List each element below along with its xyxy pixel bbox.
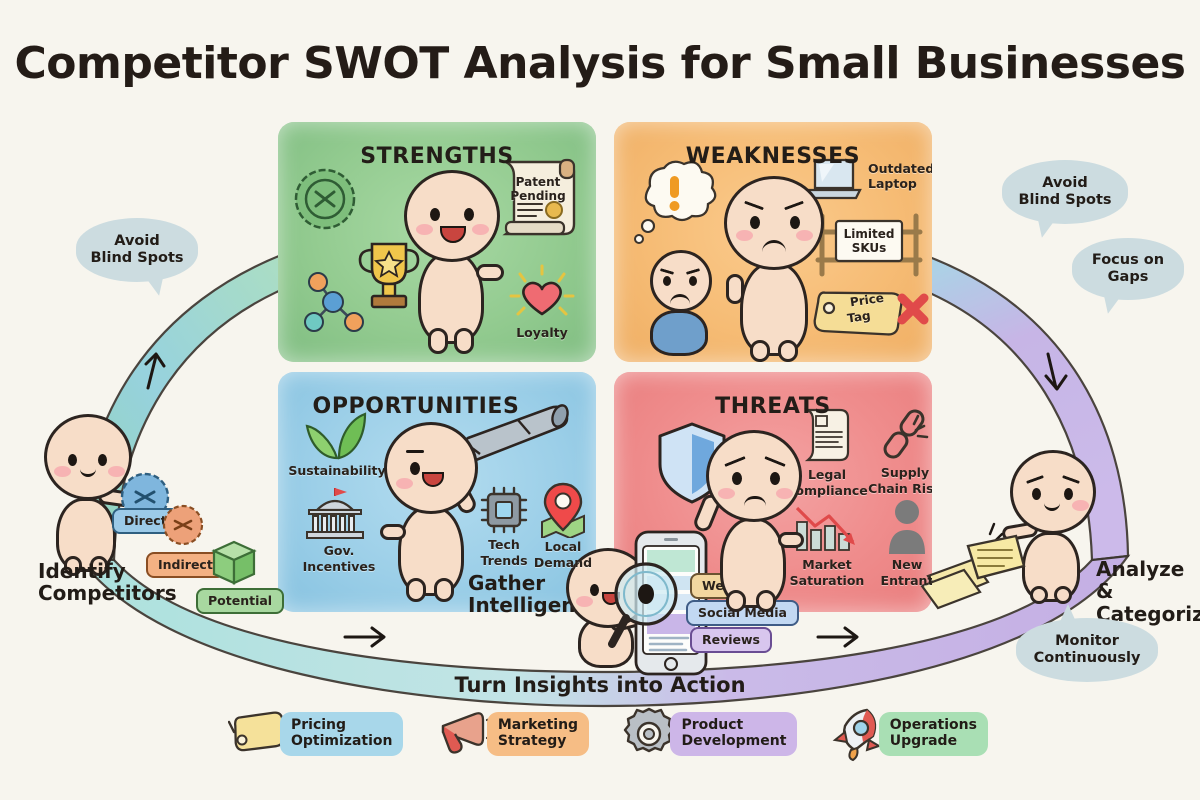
bubble-left-line2: Blind Spots <box>90 250 183 266</box>
sku-label-line2: SKUs <box>838 242 900 255</box>
new-entrant-item: New Entrant <box>870 498 932 587</box>
infographic-canvas: Competitor SWOT Analysis for Small Busin… <box>0 0 1200 800</box>
flow-arrow-up <box>146 354 164 388</box>
character-defensive <box>692 428 824 610</box>
supply-label-line2: Chain Risk <box>864 482 932 496</box>
supply-chain-risk-item: Supply Chain Risk <box>864 406 932 495</box>
local-demand-item: Local Demand <box>532 482 594 569</box>
price-tag-icon <box>228 708 288 760</box>
laptop-label-line2: Laptop <box>868 177 932 191</box>
supply-label-line1: Supply <box>864 466 932 480</box>
flow-arrow-down <box>1046 354 1066 389</box>
action-product-label: ProductDevelopment <box>670 712 797 756</box>
bubble-monitor-line1: Monitor <box>1055 633 1119 649</box>
action-pricing-label: PricingOptimization <box>280 712 403 756</box>
sku-label-line1: Limited <box>838 228 900 241</box>
identify-line2: Competitors <box>38 582 198 604</box>
page-title: Competitor SWOT Analysis for Small Busin… <box>0 38 1200 89</box>
local-label-line2: Demand <box>532 556 594 570</box>
entrant-label-line1: New <box>870 558 932 572</box>
thought-bubble <box>626 160 722 252</box>
entrant-label-line2: Entrant <box>870 574 932 588</box>
flow-arrow-right-2 <box>818 628 857 646</box>
quadrant-weaknesses-title: WEAKNESSES <box>624 144 922 169</box>
character-observing <box>370 420 498 600</box>
chip-potential[interactable]: Potential <box>196 588 284 614</box>
chip-reviews[interactable]: Reviews <box>690 627 772 653</box>
action-product-development[interactable]: ProductDevelopment <box>620 707 797 761</box>
map-pin-icon <box>536 482 590 538</box>
quadrant-threats-title: THREATS <box>624 394 922 419</box>
swot-matrix: STRENGTHS <box>278 122 932 612</box>
bubble-gaps-line1: Focus on <box>1092 252 1164 268</box>
actions-row: PricingOptimization MarketingStrategy Pr… <box>228 706 988 762</box>
government-building-icon <box>301 484 377 542</box>
bubble-right-line2: Blind Spots <box>1018 192 1111 208</box>
indirect-competitor-icon <box>160 502 206 548</box>
bubble-focus-on-gaps: Focus on Gaps <box>1072 238 1184 300</box>
action-marketing-strategy[interactable]: MarketingStrategy <box>435 708 589 760</box>
bubble-avoid-blind-spots-right: Avoid Blind Spots <box>1002 160 1128 224</box>
analyze-line1: Analyze & <box>1096 558 1200 603</box>
character-worried <box>710 174 840 360</box>
silhouette-icon <box>883 498 931 556</box>
megaphone-icon <box>435 708 495 760</box>
stage-analyze-categorize: Analyze & Categorize <box>1096 558 1200 625</box>
quadrant-threats[interactable]: THREATS Legal Compliance <box>614 372 932 612</box>
quality-badge-icon <box>292 166 358 232</box>
local-label-line1: Local <box>532 540 594 554</box>
bubble-gaps-line2: Gaps <box>1108 269 1149 285</box>
stage-identify-competitors: Identify Competitors <box>38 560 198 605</box>
action-operations-upgrade[interactable]: OperationsUpgrade <box>829 706 988 762</box>
character-happy <box>388 168 518 354</box>
quadrant-opportunities-title: OPPORTUNITIES <box>288 394 586 419</box>
potential-competitor-icon <box>208 538 260 588</box>
bubble-left-line1: Avoid <box>114 233 159 249</box>
quadrant-weaknesses[interactable]: WEAKNESSES <box>614 122 932 362</box>
documents-icon <box>920 520 1050 610</box>
quadrant-strengths-title: STRENGTHS <box>288 144 586 169</box>
quadrant-strengths[interactable]: STRENGTHS <box>278 122 596 362</box>
bubble-monitor-line2: Continuously <box>1034 650 1141 666</box>
action-operations-label: OperationsUpgrade <box>879 712 988 756</box>
cloud-icon <box>626 160 722 252</box>
bubble-right-line1: Avoid <box>1042 175 1087 191</box>
action-marketing-label: MarketingStrategy <box>487 712 589 756</box>
identify-line1: Identify <box>38 560 198 582</box>
action-pricing-optimization[interactable]: PricingOptimization <box>228 708 403 760</box>
actions-heading: Turn Insights into Action <box>0 673 1200 697</box>
flow-arrow-right-1 <box>345 628 384 646</box>
bubble-avoid-blind-spots-left: Avoid Blind Spots <box>76 218 198 282</box>
quadrant-opportunities[interactable]: OPPORTUNITIES Sustainability <box>278 372 596 612</box>
